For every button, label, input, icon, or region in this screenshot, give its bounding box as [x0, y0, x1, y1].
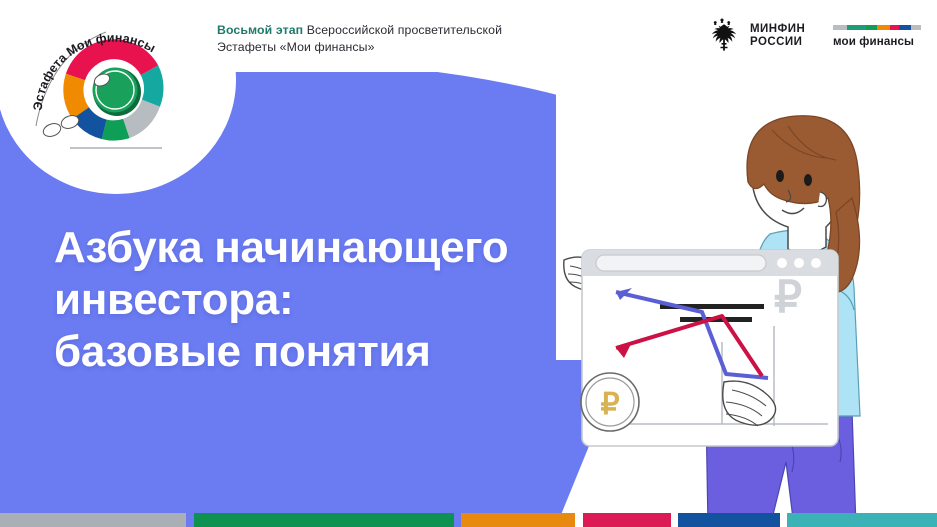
minfin-text: МИНФИН РОССИИ	[750, 23, 805, 50]
strip-segment-teal	[787, 513, 937, 527]
browser-dot-2[interactable]	[794, 258, 804, 268]
title-line-3: базовые понятия	[54, 326, 508, 378]
browser-url-bar[interactable]	[596, 255, 766, 271]
slide-root: Эстафета Мои финансы Восьмой этап Всерос…	[0, 0, 937, 527]
title-line-2: инвестора:	[54, 274, 508, 326]
figure-eye-right	[804, 174, 812, 186]
bar-seg-orange	[877, 25, 890, 30]
minfin-logo: МИНФИН РОССИИ	[703, 16, 805, 56]
donut-center	[93, 68, 138, 113]
myfinance-color-bar	[833, 25, 921, 30]
header-line1-rest: Всероссийской просветительской	[303, 23, 502, 37]
strip-segment-green	[194, 513, 454, 527]
svg-text:₽: ₽	[600, 388, 619, 421]
header-line2: Эстафеты «Мои финансы»	[217, 40, 375, 54]
bar-seg-blue	[899, 25, 910, 30]
header-subtitle: Восьмой этап Всероссийской просветительс…	[217, 22, 502, 55]
bar-seg-grey-1	[833, 25, 847, 30]
bar-seg-pink	[890, 25, 899, 30]
strip-segment-grey	[0, 513, 186, 527]
bar-seg-teal	[847, 25, 866, 30]
figure-eye-left	[776, 170, 784, 182]
bar-seg-grey-2	[911, 25, 921, 30]
bottom-color-strip	[0, 513, 937, 527]
page-title: Азбука начинающего инвестора: базовые по…	[54, 222, 508, 378]
relay-logo: Эстафета Мои финансы	[22, 8, 207, 158]
header-stage-label: Восьмой этап	[217, 23, 303, 37]
strip-segment-blue	[678, 513, 780, 527]
myfinance-label: мои финансы	[833, 35, 921, 48]
strip-segment-pink	[583, 513, 671, 527]
ruble-coin-large: ₽	[581, 373, 639, 431]
myfinance-logo: мои финансы	[833, 25, 921, 48]
minfin-line2: РОССИИ	[750, 36, 805, 50]
title-line-1: Азбука начинающего	[54, 222, 508, 274]
russian-eagle-emblem-icon	[703, 16, 741, 56]
browser-dot-1[interactable]	[777, 258, 787, 268]
bar-seg-green	[866, 25, 877, 30]
minfin-line1: МИНФИН	[750, 23, 805, 37]
strip-segment-orange	[461, 513, 575, 527]
browser-ruble-watermark: ₽	[774, 273, 802, 322]
browser-dot-3[interactable]	[811, 258, 821, 268]
woman-holding-browser-window-illustration: ₽	[556, 110, 937, 527]
